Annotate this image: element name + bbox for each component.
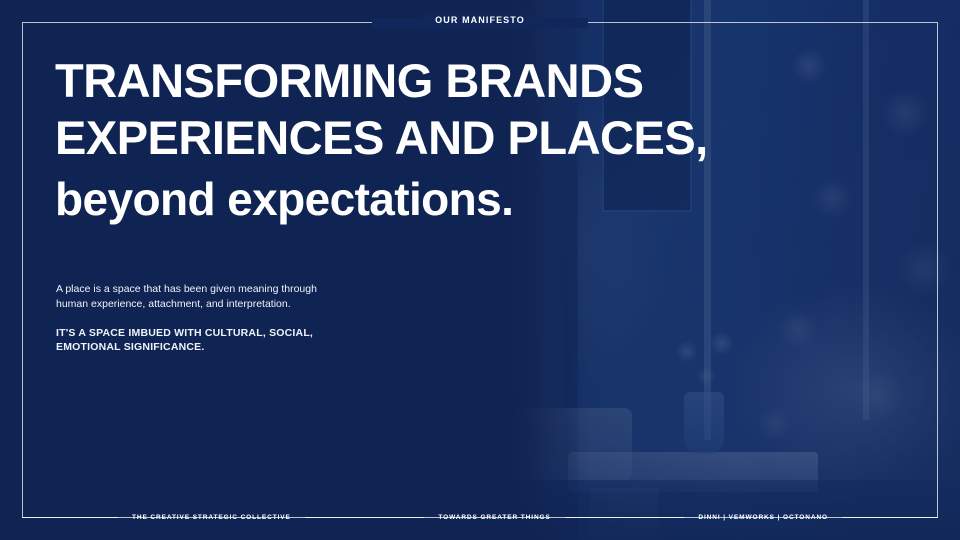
footer-rule-end (842, 517, 938, 518)
footer-rule-start (22, 517, 118, 518)
slide-footer: THE CREATIVE STRATEGIC COLLECTIVE TOWARD… (22, 510, 938, 524)
headline-line-3: beyond expectations. (55, 166, 855, 232)
body-paragraph-1: A place is a space that has been given m… (56, 282, 326, 312)
headline-line-1: TRANSFORMING BRANDS (55, 52, 855, 109)
presentation-slide: OUR MANIFESTO TRANSFORMING BRANDS EXPERI… (0, 0, 960, 540)
footer-rule-1 (305, 517, 425, 518)
headline-block: TRANSFORMING BRANDS EXPERIENCES AND PLAC… (55, 52, 855, 232)
eyebrow-text: OUR MANIFESTO (423, 15, 537, 25)
eyebrow-label: OUR MANIFESTO (0, 15, 960, 25)
body-copy-block: A place is a space that has been given m… (56, 282, 326, 354)
headline-line-2: EXPERIENCES AND PLACES, (55, 109, 855, 166)
footer-center-text: TOWARDS GREATER THINGS (424, 514, 564, 521)
footer-right-text: DINNI | VEMWORKS | OCTONANO (684, 514, 842, 521)
body-paragraph-2: IT'S A SPACE IMBUED WITH CULTURAL, SOCIA… (56, 326, 326, 354)
footer-left-text: THE CREATIVE STRATEGIC COLLECTIVE (118, 514, 305, 521)
footer-rule-2 (565, 517, 685, 518)
